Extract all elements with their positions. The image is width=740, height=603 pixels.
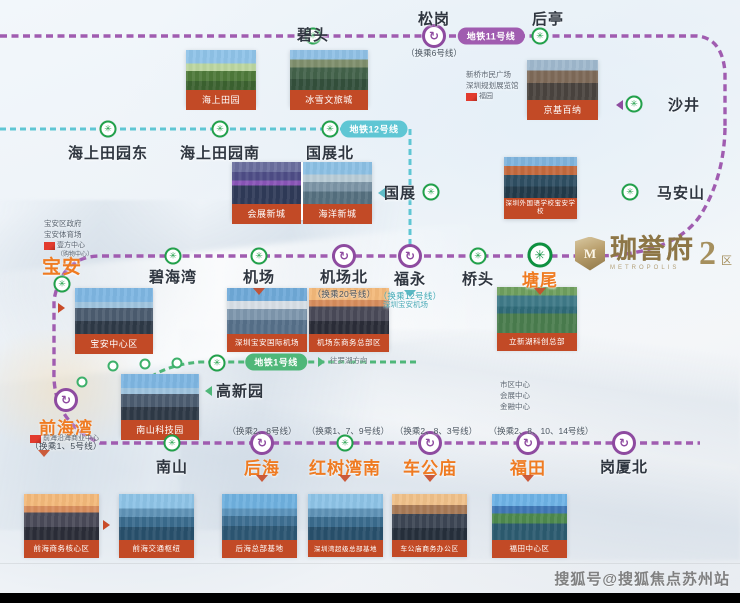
photo-chegongmiao-office xyxy=(392,494,467,540)
station-marker-hongshuwan[interactable]: ✳ xyxy=(337,435,354,452)
map-canvas: 地铁11号线 地铁12号线 地铁1号线 ↻ ✳ ✳ ✳ ✳ ✳ ✳ ✳ ✳ ↻ … xyxy=(0,0,740,603)
station-marker-haishang-south[interactable]: ✳ xyxy=(212,121,229,138)
station-label-nanshan: 南山 xyxy=(156,456,188,477)
shajing-arrow-icon xyxy=(616,100,623,110)
photo-card-futian-center[interactable]: 福田中心区 xyxy=(492,494,567,556)
station-sub-houhai: （换乘2、8号线） xyxy=(228,425,297,437)
station-marker-guozhan[interactable]: ✳ xyxy=(423,184,440,201)
station-label-guozhan: 国展 xyxy=(384,182,416,203)
note-fuyong-airport: 深圳宝安机场 xyxy=(383,300,428,311)
station-sub-chegongmiao: （换乘2、8、3号线） xyxy=(395,425,477,437)
station-label-gangxiabei: 岗厦北 xyxy=(600,456,648,477)
station-marker-qianhaiwan[interactable]: ↻ xyxy=(54,388,78,412)
photo-card-huizhan[interactable]: 会展新城 xyxy=(232,162,301,220)
photo-houhai-hq xyxy=(222,494,297,540)
photo-card-qianhai-hub[interactable]: 前海交通枢纽 xyxy=(119,494,194,556)
note-baoan-poi: 宝安区政府 宝安体育场 壹方中心 （购物中心） xyxy=(44,219,93,260)
station-sub-songgang: （换乘6号线） xyxy=(406,47,462,59)
line-badge-12: 地铁12号线 xyxy=(340,121,407,138)
note-qianhai-flag: 前海沿海商业中心 xyxy=(30,434,99,444)
photo-card-qianhai-core[interactable]: 前海商务核心区 xyxy=(24,494,99,556)
photo-jingji xyxy=(527,60,598,100)
line-badge-1: 地铁1号线 xyxy=(245,354,307,371)
hongshuwan-arrow-icon xyxy=(339,475,351,482)
photo-haishangtianyuan xyxy=(186,50,256,90)
jichang-arrow-icon xyxy=(253,288,265,295)
station-label-bihaiwan: 碧海湾 xyxy=(149,266,197,287)
station-marker-haishang-east[interactable]: ✳ xyxy=(100,121,117,138)
station-marker-houting[interactable]: ✳ xyxy=(532,28,549,45)
station-marker-shajing[interactable]: ✳ xyxy=(626,96,643,113)
station-marker-guozhanbei[interactable]: ✳ xyxy=(322,121,339,138)
station-label-guozhanbei: 国展北 xyxy=(306,142,354,163)
note-futian-poi: 市区中心 会展中心 金融中心 xyxy=(500,380,530,413)
station-marker-jichang[interactable]: ✳ xyxy=(251,248,268,265)
photo-baoan-center xyxy=(75,288,153,334)
station-marker-jichangbei[interactable]: ↻ xyxy=(332,244,356,268)
photo-card-shenzhen-bay[interactable]: 深圳湾超级总部基地 xyxy=(308,494,383,556)
photo-bingxue xyxy=(290,50,368,90)
station-marker-line1-stop-c[interactable] xyxy=(140,359,151,370)
station-marker-line1-stop-b[interactable] xyxy=(108,361,119,372)
station-marker-bihaiwan[interactable]: ✳ xyxy=(165,248,182,265)
photo-haiyang xyxy=(303,162,372,204)
station-label-haishang-east: 海上田园东 xyxy=(68,142,148,163)
strip-arrow-icon xyxy=(103,520,110,530)
photo-card-jingji[interactable]: 京基百纳 xyxy=(527,60,598,116)
station-marker-qiaotou[interactable]: ✳ xyxy=(470,248,487,265)
station-label-bitou: 碧头 xyxy=(297,24,329,45)
photo-futian-center xyxy=(492,494,567,540)
photo-card-baoan-center[interactable]: 宝安中心区 xyxy=(75,288,153,350)
station-marker-fuyong[interactable]: ↻ xyxy=(398,244,422,268)
tangwei-arrow-icon xyxy=(534,288,546,295)
photo-qianhai-hub xyxy=(119,494,194,540)
brand-subtitle: METROPOLIS xyxy=(610,265,694,271)
futian-arrow-icon xyxy=(522,475,534,482)
line-badge-11: 地铁11号线 xyxy=(458,28,525,45)
photo-card-nanshan-park[interactable]: 南山科技园 xyxy=(121,374,199,436)
qianhai-arrow-icon xyxy=(38,450,50,457)
photo-card-pair-huizhan-haiyang[interactable]: 会展新城 海洋新城 xyxy=(232,162,372,220)
station-marker-gangxiabei[interactable]: ↻ xyxy=(612,431,636,455)
photo-card-airport[interactable]: 深圳宝安国际机场 xyxy=(227,288,307,350)
bottom-divider xyxy=(0,563,740,564)
photo-card-chegongmiao-office[interactable]: 车公庙商务办公区 xyxy=(392,494,467,556)
watermark: 搜狐号@搜狐焦点苏州站 xyxy=(554,568,730,589)
station-marker-line1-stop-a[interactable] xyxy=(77,377,88,388)
line1-direction-arrow-icon xyxy=(318,357,325,367)
station-label-qianhaiwan: 前海湾 （换乘1、5号线） xyxy=(30,414,102,452)
crest-icon: M xyxy=(575,237,605,271)
bottom-black-bar xyxy=(0,593,740,603)
station-label-haishang-south: 海上田园南 xyxy=(180,142,260,163)
photo-card-waiguoyu[interactable]: 深圳外国语学校宝安学校 xyxy=(504,157,577,219)
station-label-maanshan: 马安山 xyxy=(657,182,705,203)
photo-airport xyxy=(227,288,307,334)
station-label-songgang: 松岗 xyxy=(418,8,450,29)
station-marker-gaoxinyuan[interactable]: ✳ xyxy=(209,355,226,372)
brand-zone: 区 xyxy=(721,252,732,268)
station-label-jichangbei: 机场北 （换乘20号线） xyxy=(313,266,376,300)
guozhan-arrow-icon xyxy=(378,188,385,198)
flag-icon-3 xyxy=(30,435,41,443)
gaoxin-direction-note: 往罗湖方向 xyxy=(330,356,368,367)
houhai-arrow-icon xyxy=(256,475,268,482)
note-xinqiao-poi: 新桥市民广场 深圳规划展览馆 福园 xyxy=(466,70,519,102)
station-sub-hongshuwan: （换乘1、7、9号线） xyxy=(307,425,389,437)
photo-card-haishangtianyuan[interactable]: 海上田园 xyxy=(186,50,256,106)
fuyong-arrow-icon xyxy=(404,290,416,297)
photo-shenzhen-bay xyxy=(308,494,383,540)
gaoxinyuan-arrow-icon xyxy=(205,386,212,396)
station-label-qiaotou: 桥头 xyxy=(462,268,494,289)
photo-card-lixinhu[interactable]: 立新湖科创总部 xyxy=(497,287,577,349)
station-marker-line1-stop-d[interactable] xyxy=(172,358,183,369)
photo-card-houhai-hq[interactable]: 后海总部基地 xyxy=(222,494,297,556)
photo-huizhan xyxy=(232,162,301,204)
station-marker-nanshan[interactable]: ✳ xyxy=(164,435,181,452)
chegongmiao-arrow-icon xyxy=(424,475,436,482)
brand-name: 珈誉府 xyxy=(610,236,694,263)
baoan-arrow-icon xyxy=(58,303,65,313)
station-label-gaoxinyuan: 高新园 xyxy=(216,380,264,401)
flag-icon xyxy=(44,242,55,250)
station-label-shajing: 沙井 xyxy=(668,94,700,115)
photo-card-haiyang[interactable]: 海洋新城 xyxy=(303,162,372,220)
station-label-houting: 后亭 xyxy=(532,8,564,29)
station-sub-futian: （换乘2、8、10、14号线） xyxy=(489,425,594,437)
brand-number: 2 xyxy=(699,237,716,271)
station-marker-tangwei[interactable]: ✳ xyxy=(528,243,553,268)
flag-icon-2 xyxy=(466,93,477,101)
station-label-jichang: 机场 xyxy=(243,266,275,287)
station-marker-maanshan[interactable]: ✳ xyxy=(622,184,639,201)
brand-logo: M 珈誉府 METROPOLIS 2 区 xyxy=(575,236,732,271)
photo-waiguoyu xyxy=(504,157,577,198)
photo-nanshan-park xyxy=(121,374,199,420)
photo-card-bingxue[interactable]: 冰雪文旅城 xyxy=(290,50,368,106)
photo-qianhai-core xyxy=(24,494,99,540)
